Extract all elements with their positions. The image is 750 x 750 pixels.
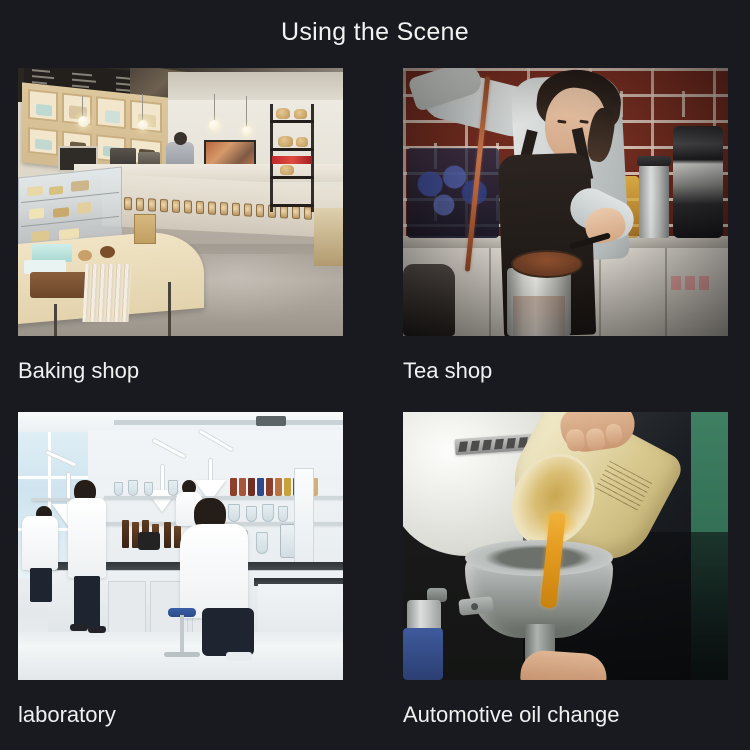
pendant-wire <box>214 94 215 122</box>
funnel-rim <box>465 540 613 576</box>
pendant-wire <box>82 96 83 118</box>
photo-vignette <box>403 68 728 336</box>
blue-component <box>403 628 443 680</box>
caption-laboratory: laboratory <box>18 702 343 728</box>
ceiling-soffit <box>168 72 343 100</box>
beaker <box>246 506 257 522</box>
lab-coat <box>22 516 58 570</box>
caption-baking-shop: Baking shop <box>18 358 343 384</box>
scene-cell-automotive-oil-change[interactable]: Automotive oil change <box>403 412 728 728</box>
flask <box>256 532 268 554</box>
pendant-bulb <box>209 120 220 131</box>
lab-coat <box>180 524 248 618</box>
flask <box>168 480 178 496</box>
brown-bottle <box>164 522 171 548</box>
researcher-shoe <box>226 652 252 661</box>
pendant-bulb <box>242 126 252 136</box>
lab-stool-post <box>180 615 184 655</box>
scene-cell-baking-shop[interactable]: Baking shop <box>18 68 343 384</box>
pastry-item <box>100 246 115 258</box>
table-leg <box>54 304 57 336</box>
page-title: Using the Scene <box>0 18 750 47</box>
researcher-legs <box>30 568 52 602</box>
shelf-cubby <box>28 89 58 122</box>
caption-automotive-oil-change: Automotive oil change <box>403 702 728 728</box>
caption-tea-shop: Tea shop <box>403 358 728 384</box>
beaker <box>262 504 274 522</box>
researcher-legs <box>74 576 100 628</box>
shelf-cubby <box>28 127 58 156</box>
flask <box>144 482 153 496</box>
pastry-item <box>78 250 92 261</box>
lab-coat <box>68 498 106 578</box>
pendant-wire <box>246 96 247 128</box>
bread-loaf <box>30 272 88 298</box>
flask <box>114 482 123 496</box>
researcher-legs <box>202 608 254 656</box>
shelf-cubby <box>96 96 126 129</box>
price-sign <box>272 156 312 164</box>
researcher-shoe <box>70 624 88 631</box>
ceiling-fixture <box>256 416 286 426</box>
scene-cell-laboratory[interactable]: laboratory <box>18 412 343 728</box>
researcher-shoe <box>88 626 106 633</box>
staff-head <box>174 132 187 145</box>
beaker <box>228 504 240 522</box>
table-leg <box>168 282 171 336</box>
oil-change-photo[interactable] <box>403 412 728 680</box>
baking-shop-photo[interactable] <box>18 68 343 336</box>
lab-stool-base <box>164 652 200 657</box>
pendant-wire <box>142 94 143 122</box>
flask <box>128 480 138 496</box>
pendant-bulb <box>78 116 89 127</box>
side-furniture <box>314 208 343 266</box>
tea-shop-photo[interactable] <box>403 68 728 336</box>
paper-bag <box>134 214 156 244</box>
pendant-bulb <box>138 120 148 130</box>
using-the-scene-page: Using the Scene <box>0 0 750 750</box>
lab-instrument <box>138 532 160 550</box>
beaker <box>278 506 288 522</box>
laboratory-photo[interactable] <box>18 412 343 680</box>
brown-bottle <box>122 520 129 548</box>
scene-cell-tea-shop[interactable]: Tea shop <box>403 68 728 384</box>
table-cloth <box>82 264 131 322</box>
